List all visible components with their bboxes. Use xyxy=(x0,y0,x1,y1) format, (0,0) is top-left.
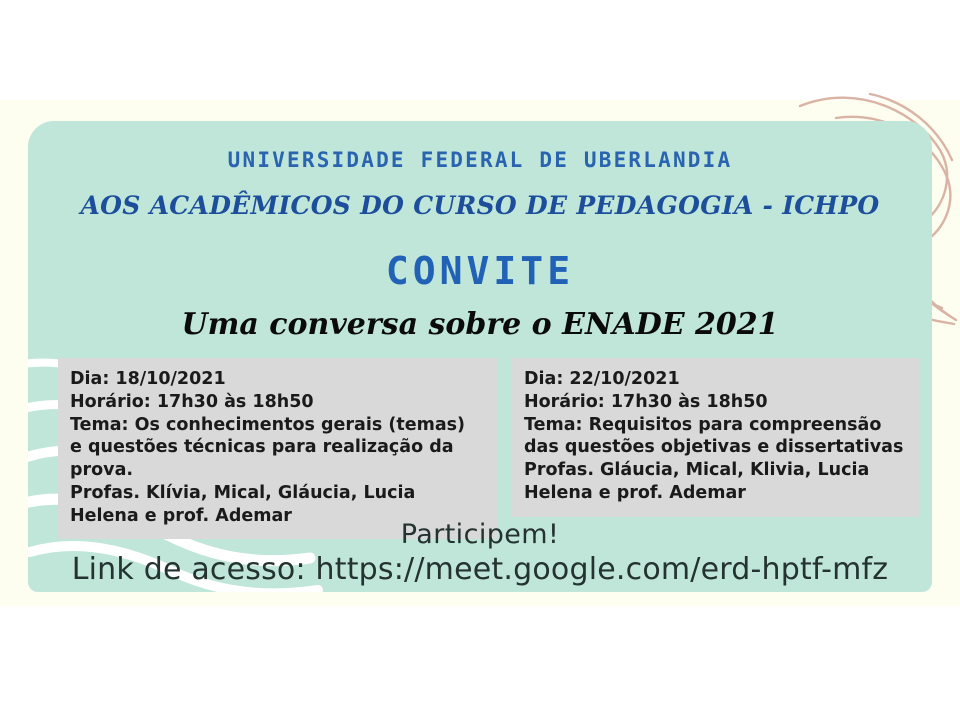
session-speakers-line: Profas. Klívia, Mical, Gláucia, Lucia xyxy=(70,482,488,505)
invitation-card: UNIVERSIDADE FEDERAL DE UBERLANDIA AOS A… xyxy=(28,121,932,592)
session-time: Horário: 17h30 às 18h50 xyxy=(524,391,910,414)
invitation-slide: UNIVERSIDADE FEDERAL DE UBERLANDIA AOS A… xyxy=(0,0,960,720)
meeting-link[interactable]: Link de acesso: https://meet.google.com/… xyxy=(28,552,932,587)
audience-heading: AOS ACADÊMICOS DO CURSO DE PEDAGOGIA - I… xyxy=(28,191,932,220)
session-date: Dia: 22/10/2021 xyxy=(524,368,910,391)
university-name: UNIVERSIDADE FEDERAL DE UBERLANDIA xyxy=(28,148,932,172)
page-title: CONVITE xyxy=(28,249,932,293)
session-speakers-line: Helena e prof. Ademar xyxy=(524,482,910,505)
session-topic-line: Tema: Os conhecimentos gerais (temas) xyxy=(70,414,488,437)
session-topic-line: prova. xyxy=(70,459,488,482)
call-to-action: Participem! xyxy=(28,519,932,550)
session-topic-line: Tema: Requisitos para compreensão xyxy=(524,414,910,437)
event-subtitle: Uma conversa sobre o ENADE 2021 xyxy=(28,307,932,342)
session-topic-line: e questões técnicas para realização da xyxy=(70,436,488,459)
session-topic-line: das questões objetivas e dissertativas xyxy=(524,436,910,459)
session-date: Dia: 18/10/2021 xyxy=(70,368,488,391)
session-panels: Dia: 18/10/2021 Horário: 17h30 às 18h50 … xyxy=(58,358,920,539)
session-panel: Dia: 18/10/2021 Horário: 17h30 às 18h50 … xyxy=(58,358,498,539)
session-speakers-line: Profas. Gláucia, Mical, Klivia, Lucia xyxy=(524,459,910,482)
session-time: Horário: 17h30 às 18h50 xyxy=(70,391,488,414)
closing-block: Participem! Link de acesso: https://meet… xyxy=(28,519,932,587)
session-panel: Dia: 22/10/2021 Horário: 17h30 às 18h50 … xyxy=(512,358,920,517)
